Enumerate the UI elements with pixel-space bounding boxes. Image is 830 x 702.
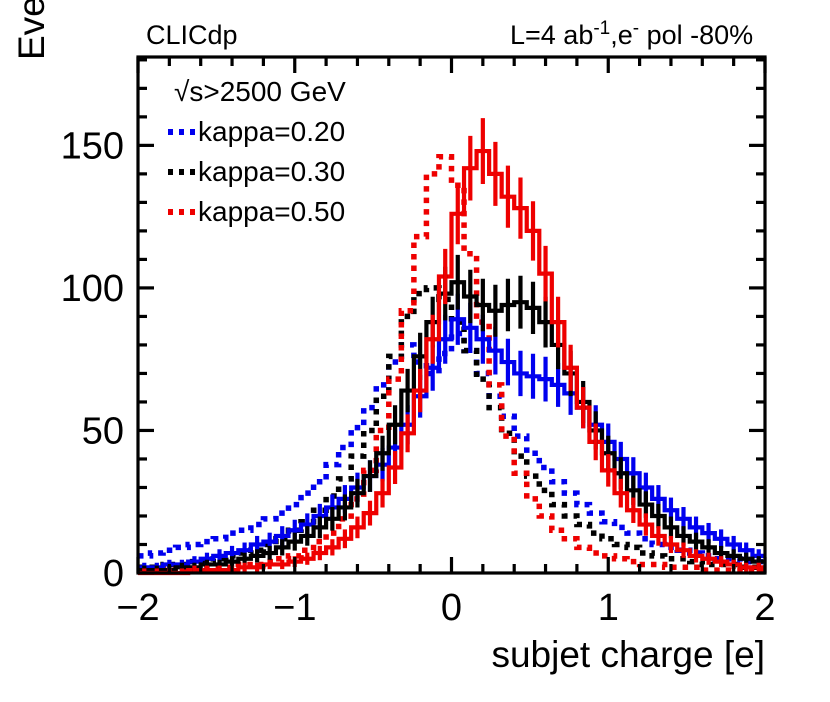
y-tick-label: 0 <box>103 553 124 595</box>
x-tick-label: −1 <box>273 587 316 629</box>
legend-title: √s>2500 GeV <box>174 76 346 107</box>
lumi-text: L=4 ab-1,e- pol -80% <box>510 18 753 50</box>
polarisation-text: pol -80% <box>639 20 753 50</box>
legend-label: kappa=0.50 <box>198 196 345 227</box>
legend-label: kappa=0.20 <box>198 116 345 147</box>
x-tick-label: 2 <box>754 587 775 629</box>
y-tick-label: 50 <box>82 411 124 453</box>
y-axis-title: Events <box>11 0 52 60</box>
lumi-prefix: L=4 ab <box>510 20 593 50</box>
x-tick-label: 0 <box>441 587 462 629</box>
lumi-polarisation-label: L=4 ab-1,e- pol -80% <box>510 18 753 50</box>
subjet-charge-histogram: CLICdp L=4 ab-1,e- pol -80% −2−101205010… <box>0 0 830 702</box>
clicdp-label: CLICdp <box>146 20 238 50</box>
lumi-exponent: -1 <box>593 18 610 39</box>
x-tick-label: 1 <box>598 587 619 629</box>
y-tick-label: 100 <box>61 268 124 310</box>
plot-root: CLICdp L=4 ab-1,e- pol -80% −2−101205010… <box>0 0 830 702</box>
electron-sep: ,e <box>610 20 633 50</box>
legend-label: kappa=0.30 <box>198 156 345 187</box>
y-tick-label: 150 <box>61 125 124 167</box>
x-axis-title: subjet charge [e] <box>491 634 765 675</box>
